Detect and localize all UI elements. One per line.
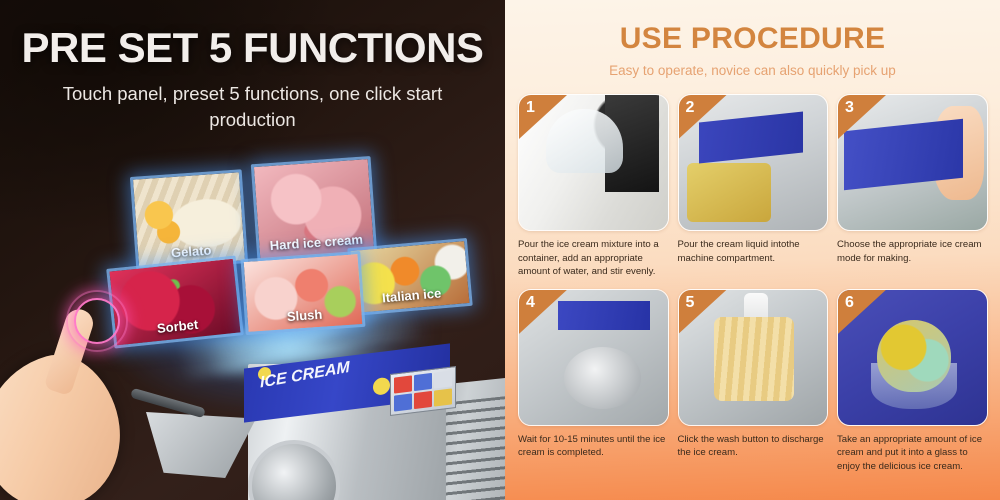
flavor-tile-slush[interactable]: Slush xyxy=(240,251,365,335)
machine-touch-panel[interactable] xyxy=(390,366,456,416)
brand-smiley-icon xyxy=(373,377,390,396)
page-subtitle: Touch panel, preset 5 functions, one cli… xyxy=(0,81,505,134)
step-number: 5 xyxy=(686,294,695,312)
step-number: 4 xyxy=(526,294,535,312)
panel-key-2[interactable] xyxy=(414,373,432,391)
preset-functions-panel: PRE SET 5 FUNCTIONS Touch panel, preset … xyxy=(0,0,505,500)
pointing-hand-illustration xyxy=(0,300,142,500)
step-number: 2 xyxy=(686,99,695,117)
ice-cream-machine-photo: ICE CREAM xyxy=(96,336,505,500)
panel-key-6[interactable] xyxy=(434,388,452,406)
procedure-step-6[interactable]: 6 Take an appropriate amount of ice crea… xyxy=(837,289,988,474)
machine-hopper xyxy=(146,412,256,478)
step-caption: Take an appropriate amount of ice cream … xyxy=(837,433,988,474)
procedure-title: USE PROCEDURE xyxy=(505,22,1000,56)
step-caption: Click the wash button to discharge the i… xyxy=(678,433,829,460)
step-caption: Wait for 10-15 minutes until the ice cre… xyxy=(518,433,669,460)
machine-vent-grille xyxy=(442,393,505,500)
procedure-step-4[interactable]: 4 Wait for 10-15 minutes until the ice c… xyxy=(518,289,669,474)
panel-key-1[interactable] xyxy=(394,375,412,393)
procedure-step-2[interactable]: 2 Pour the cream liquid intothe machine … xyxy=(678,94,829,279)
left-header: PRE SET 5 FUNCTIONS Touch panel, preset … xyxy=(0,26,505,134)
page-title: PRE SET 5 FUNCTIONS xyxy=(0,26,505,70)
step-caption: Pour the cream liquid intothe machine co… xyxy=(678,238,829,265)
machine-brand-text: ICE CREAM xyxy=(260,356,371,391)
step-number: 6 xyxy=(845,294,854,312)
step-thumbnail[interactable]: 2 xyxy=(678,94,829,231)
step-caption: Choose the appropriate ice cream mode fo… xyxy=(837,238,988,265)
procedure-subtitle: Easy to operate, novice can also quickly… xyxy=(505,63,1000,78)
step-caption: Pour the ice cream mixture into a contai… xyxy=(518,238,669,279)
procedure-step-1[interactable]: 1 Pour the ice cream mixture into a cont… xyxy=(518,94,669,279)
flavor-tile-hard-ice-cream[interactable]: Hard ice cream xyxy=(251,156,378,262)
use-procedure-panel: USE PROCEDURE Easy to operate, novice ca… xyxy=(505,0,1000,500)
right-header: USE PROCEDURE Easy to operate, novice ca… xyxy=(505,0,1000,78)
procedure-step-3[interactable]: 3 Choose the appropriate ice cream mode … xyxy=(837,94,988,279)
steps-row-2: 4 Wait for 10-15 minutes until the ice c… xyxy=(518,289,988,474)
step-thumbnail[interactable]: 4 xyxy=(518,289,669,426)
panel-key-3[interactable] xyxy=(434,370,452,388)
touch-ripple-inner xyxy=(74,298,120,344)
step-thumbnail[interactable]: 6 xyxy=(837,289,988,426)
panel-key-4[interactable] xyxy=(394,393,412,411)
flavor-tile-italian-ice[interactable]: Italian ice xyxy=(347,238,472,316)
banner-root: PRE SET 5 FUNCTIONS Touch panel, preset … xyxy=(0,0,1000,500)
step-thumbnail[interactable]: 5 xyxy=(678,289,829,426)
procedure-step-5[interactable]: 5 Click the wash button to discharge the… xyxy=(678,289,829,474)
procedure-steps-grid: 1 Pour the ice cream mixture into a cont… xyxy=(518,94,988,474)
panel-key-5[interactable] xyxy=(414,391,432,409)
steps-row-1: 1 Pour the ice cream mixture into a cont… xyxy=(518,94,988,279)
step-thumbnail[interactable]: 1 xyxy=(518,94,669,231)
step-thumbnail[interactable]: 3 xyxy=(837,94,988,231)
step-number: 1 xyxy=(526,99,535,117)
step-number: 3 xyxy=(845,99,854,117)
